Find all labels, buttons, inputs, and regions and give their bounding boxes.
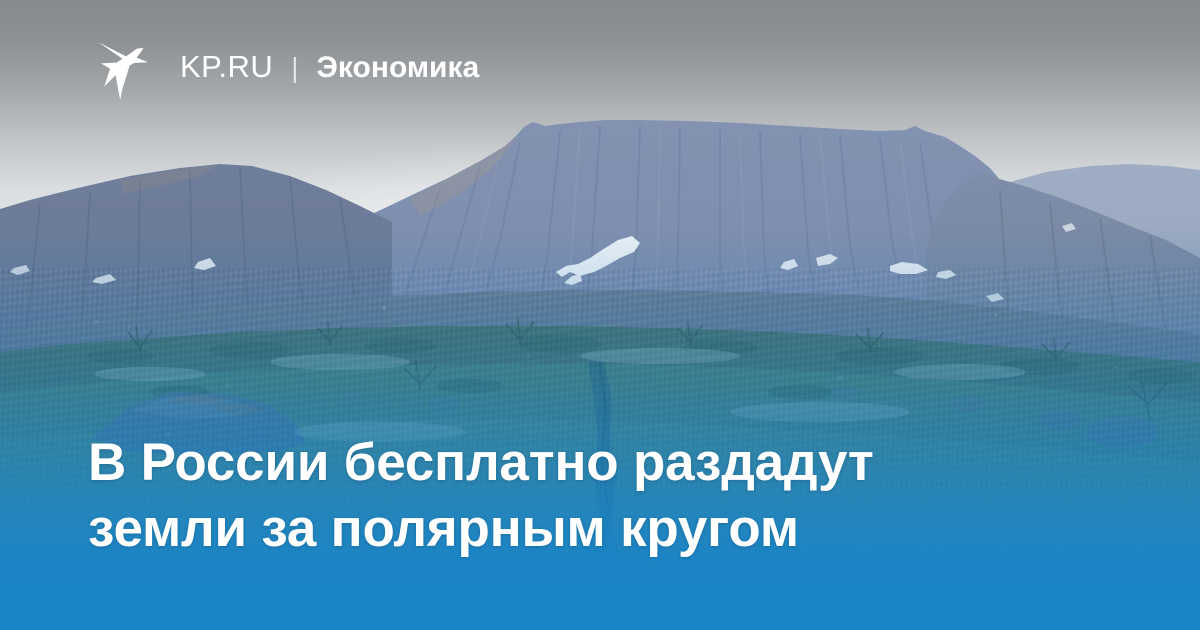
section-label-economics[interactable]: Экономика	[317, 51, 480, 85]
kp-swallow-bird-logo-icon[interactable]	[96, 34, 158, 100]
headline: В России бесплатно раздадут земли за пол…	[88, 430, 1008, 562]
headline-line-2: земли за полярным кругом	[88, 496, 1008, 562]
brand-name[interactable]: KP.RU	[180, 49, 273, 85]
headline-line-1: В России бесплатно раздадут	[88, 430, 1008, 496]
share-card: KP.RU | Экономика В России бесплатно раз…	[0, 0, 1200, 630]
brand-separator: |	[291, 52, 298, 84]
blue-solid-footer	[0, 588, 1200, 630]
brand-header: KP.RU | Экономика	[96, 34, 479, 100]
